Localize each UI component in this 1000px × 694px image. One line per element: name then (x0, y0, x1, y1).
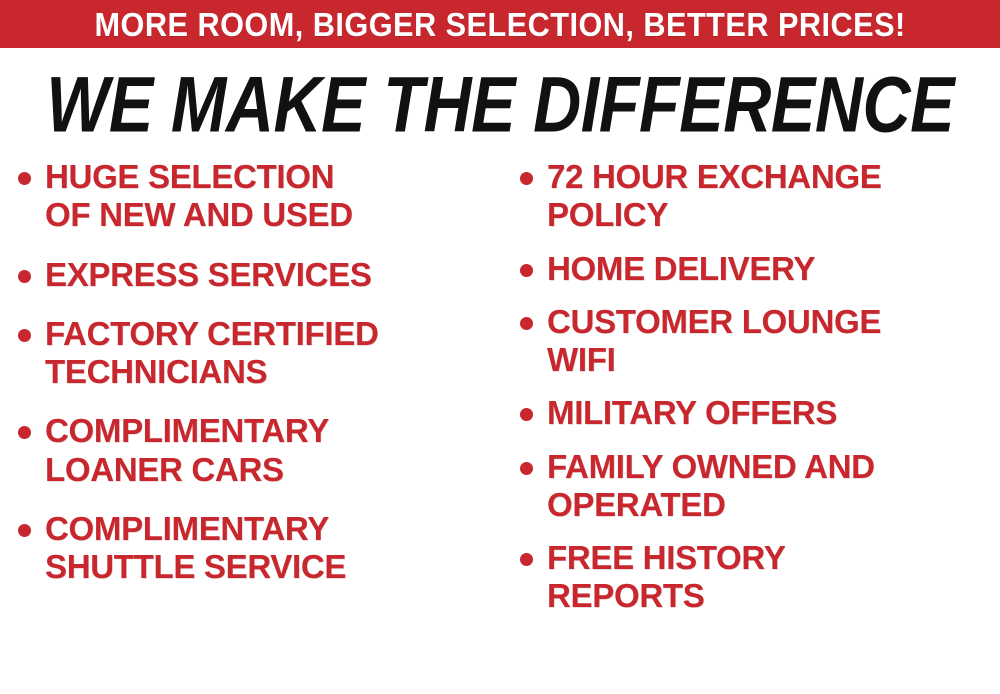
feature-item: COMPLIMENTARY SHUTTLE SERVICE (18, 510, 494, 587)
feature-item: FREE HISTORY REPORTS (520, 539, 996, 616)
features-columns: HUGE SELECTION OF NEW AND USED EXPRESS S… (0, 158, 1000, 688)
feature-item: HUGE SELECTION OF NEW AND USED (18, 158, 494, 235)
bullet-dot-icon (520, 264, 533, 277)
feature-item: EXPRESS SERVICES (18, 256, 494, 294)
features-left-column: HUGE SELECTION OF NEW AND USED EXPRESS S… (0, 158, 500, 607)
bullet-dot-icon (520, 317, 533, 330)
feature-item: HOME DELIVERY (520, 250, 996, 288)
bullet-dot-icon (18, 172, 31, 185)
feature-item: COMPLIMENTARY LOANER CARS (18, 412, 494, 489)
feature-item: FAMILY OWNED AND OPERATED (520, 448, 996, 525)
feature-label: COMPLIMENTARY LOANER CARS (45, 412, 329, 489)
feature-label: COMPLIMENTARY SHUTTLE SERVICE (45, 510, 346, 587)
feature-label: HUGE SELECTION OF NEW AND USED (45, 158, 353, 235)
features-right-column: 72 HOUR EXCHANGE POLICY HOME DELIVERY CU… (500, 158, 1000, 631)
headline-container: WE MAKE THE DIFFERENCE (0, 62, 1000, 148)
promo-banner-text: MORE ROOM, BIGGER SELECTION, BETTER PRIC… (94, 8, 905, 41)
bullet-dot-icon (18, 426, 31, 439)
bullet-dot-icon (520, 462, 533, 475)
bullet-dot-icon (520, 172, 533, 185)
feature-label: CUSTOMER LOUNGE WIFI (547, 303, 881, 380)
advertisement-banner: MORE ROOM, BIGGER SELECTION, BETTER PRIC… (0, 0, 1000, 694)
feature-item: CUSTOMER LOUNGE WIFI (520, 303, 996, 380)
feature-label: MILITARY OFFERS (547, 394, 837, 432)
feature-label: 72 HOUR EXCHANGE POLICY (547, 158, 881, 235)
main-headline: WE MAKE THE DIFFERENCE (46, 66, 954, 144)
feature-item: FACTORY CERTIFIED TECHNICIANS (18, 315, 494, 392)
bullet-dot-icon (520, 553, 533, 566)
feature-label: HOME DELIVERY (547, 250, 815, 288)
feature-label: EXPRESS SERVICES (45, 256, 372, 294)
bullet-dot-icon (18, 329, 31, 342)
feature-label: FREE HISTORY REPORTS (547, 539, 785, 616)
bullet-dot-icon (18, 524, 31, 537)
top-promo-banner: MORE ROOM, BIGGER SELECTION, BETTER PRIC… (0, 0, 1000, 48)
bullet-dot-icon (520, 408, 533, 421)
feature-item: 72 HOUR EXCHANGE POLICY (520, 158, 996, 235)
feature-item: MILITARY OFFERS (520, 394, 996, 432)
feature-label: FAMILY OWNED AND OPERATED (547, 448, 875, 525)
bullet-dot-icon (18, 270, 31, 283)
feature-label: FACTORY CERTIFIED TECHNICIANS (45, 315, 379, 392)
